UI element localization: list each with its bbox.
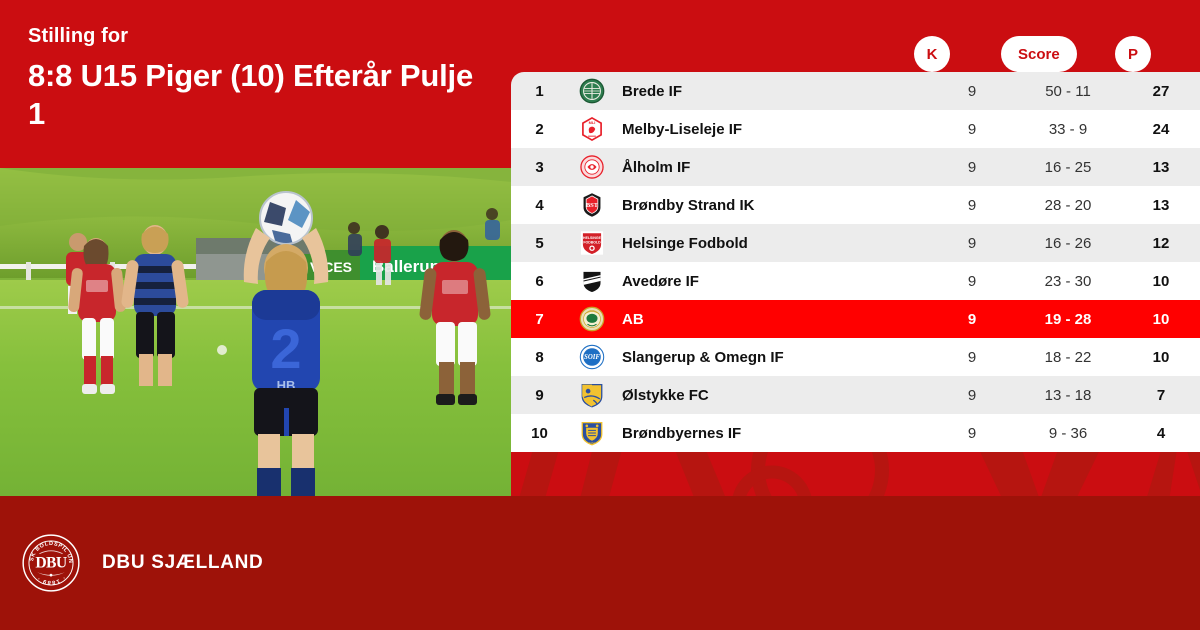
- svg-text:BST: BST: [585, 202, 598, 209]
- row-matches-played: 9: [930, 83, 1014, 100]
- row-team-name[interactable]: Melby-Liseleje IF: [615, 121, 930, 138]
- svg-text:FODBOLD: FODBOLD: [583, 241, 601, 245]
- row-points: 13: [1122, 197, 1200, 214]
- row-team-name[interactable]: Slangerup & Omegn IF: [615, 349, 930, 366]
- svg-text:1930: 1930: [589, 361, 595, 365]
- table-row[interactable]: 3 Ålholm IF916 - 2513: [511, 148, 1200, 186]
- row-position: 1: [511, 83, 568, 100]
- dbu-seal-logo: DANSK BOLDSPIL UNION · 1889 · DBU: [22, 534, 80, 592]
- slangerup-omegn-if-logo: SOIF 1930: [568, 344, 615, 370]
- row-position: 10: [511, 425, 568, 442]
- page-footer: DANSK BOLDSPIL UNION · 1889 · DBU DBU SJ…: [0, 496, 1200, 630]
- row-team-name[interactable]: Avedøre IF: [615, 273, 930, 290]
- svg-text:SOIF: SOIF: [584, 354, 600, 361]
- row-position: 6: [511, 273, 568, 290]
- row-points: 12: [1122, 235, 1200, 252]
- row-points: 10: [1122, 273, 1200, 290]
- row-position: 2: [511, 121, 568, 138]
- row-position: 5: [511, 235, 568, 252]
- row-team-name[interactable]: AB: [615, 311, 930, 328]
- row-matches-played: 9: [930, 387, 1014, 404]
- table-row[interactable]: 2 MLI Melby-Liseleje IF933 - 924: [511, 110, 1200, 148]
- row-team-name[interactable]: Helsinge Fodbold: [615, 235, 930, 252]
- row-points: 10: [1122, 349, 1200, 366]
- svg-text:DBU: DBU: [35, 555, 67, 572]
- footer-org-name: DBU SJÆLLAND: [102, 552, 263, 574]
- row-goal-score: 33 - 9: [1014, 121, 1122, 138]
- row-team-name[interactable]: Brøndbyernes IF: [615, 425, 930, 442]
- column-header-p[interactable]: P: [1115, 36, 1151, 72]
- row-matches-played: 9: [930, 235, 1014, 252]
- svg-text:HELSINGE: HELSINGE: [583, 236, 602, 240]
- svg-text:MLI: MLI: [588, 120, 595, 125]
- row-matches-played: 9: [930, 273, 1014, 290]
- table-row[interactable]: 10 1964Brøndbyernes IF99 - 364: [511, 414, 1200, 452]
- table-row[interactable]: 6 Avedøre IF923 - 3010: [511, 262, 1200, 300]
- melby-liseleje-if-logo: MLI: [568, 116, 615, 142]
- aalholm-if-logo: [568, 154, 615, 180]
- row-matches-played: 9: [930, 425, 1014, 442]
- row-goal-score: 28 - 20: [1014, 197, 1122, 214]
- row-points: 7: [1122, 387, 1200, 404]
- row-points: 24: [1122, 121, 1200, 138]
- row-goal-score: 16 - 25: [1014, 159, 1122, 176]
- row-matches-played: 9: [930, 311, 1014, 328]
- table-row[interactable]: 1 Brede IF950 - 1127: [511, 72, 1200, 110]
- row-position: 3: [511, 159, 568, 176]
- row-goal-score: 9 - 36: [1014, 425, 1122, 442]
- table-row[interactable]: 8 SOIF 1930Slangerup & Omegn IF918 - 221…: [511, 338, 1200, 376]
- row-points: 27: [1122, 83, 1200, 100]
- avedore-if-logo: [568, 268, 615, 294]
- row-goal-score: 50 - 11: [1014, 83, 1122, 100]
- row-position: 9: [511, 387, 568, 404]
- row-matches-played: 9: [930, 159, 1014, 176]
- row-matches-played: 9: [930, 349, 1014, 366]
- row-team-name[interactable]: Ølstykke FC: [615, 387, 930, 404]
- match-photo: VICES Ballerup: [0, 168, 511, 496]
- row-matches-played: 9: [930, 121, 1014, 138]
- table-row[interactable]: 4 BSTBrøndby Strand IK928 - 2013: [511, 186, 1200, 224]
- row-goal-score: 23 - 30: [1014, 273, 1122, 290]
- page-title: 8:8 U15 Piger (10) Efterår Pulje 1: [28, 57, 498, 134]
- brondby-strand-ik-logo: BST: [568, 192, 615, 218]
- row-position: 4: [511, 197, 568, 214]
- row-points: 13: [1122, 159, 1200, 176]
- row-team-name[interactable]: Brøndby Strand IK: [615, 197, 930, 214]
- row-goal-score: 16 - 26: [1014, 235, 1122, 252]
- ab-logo: [568, 306, 615, 332]
- olstykke-fc-logo: [568, 382, 615, 408]
- helsinge-fodbold-logo: HELSINGE FODBOLD: [568, 230, 615, 256]
- row-goal-score: 18 - 22: [1014, 349, 1122, 366]
- column-header-score[interactable]: Score: [1001, 36, 1077, 72]
- row-matches-played: 9: [930, 197, 1014, 214]
- table-row[interactable]: 5 HELSINGE FODBOLD Helsinge Fodbold916 -…: [511, 224, 1200, 262]
- table-row[interactable]: 9 Ølstykke FC913 - 187: [511, 376, 1200, 414]
- brondbyernes-if-logo: 1964: [568, 420, 615, 446]
- row-points: 10: [1122, 311, 1200, 328]
- row-position: 8: [511, 349, 568, 366]
- brede-if-logo: [568, 78, 615, 104]
- row-team-name[interactable]: Brede IF: [615, 83, 930, 100]
- svg-text:1964: 1964: [589, 441, 595, 445]
- row-goal-score: 13 - 18: [1014, 387, 1122, 404]
- row-team-name[interactable]: Ålholm IF: [615, 159, 930, 176]
- row-goal-score: 19 - 28: [1014, 311, 1122, 328]
- standings-table: 1 Brede IF950 - 11272 MLI Melby-Liseleje…: [511, 72, 1200, 452]
- table-row[interactable]: 7 AB919 - 2810: [511, 300, 1200, 338]
- football-scene-illustration: VICES Ballerup: [0, 168, 511, 496]
- row-position: 7: [511, 311, 568, 328]
- svg-text:2: 2: [270, 317, 301, 380]
- column-header-k[interactable]: K: [914, 36, 950, 72]
- row-points: 4: [1122, 425, 1200, 442]
